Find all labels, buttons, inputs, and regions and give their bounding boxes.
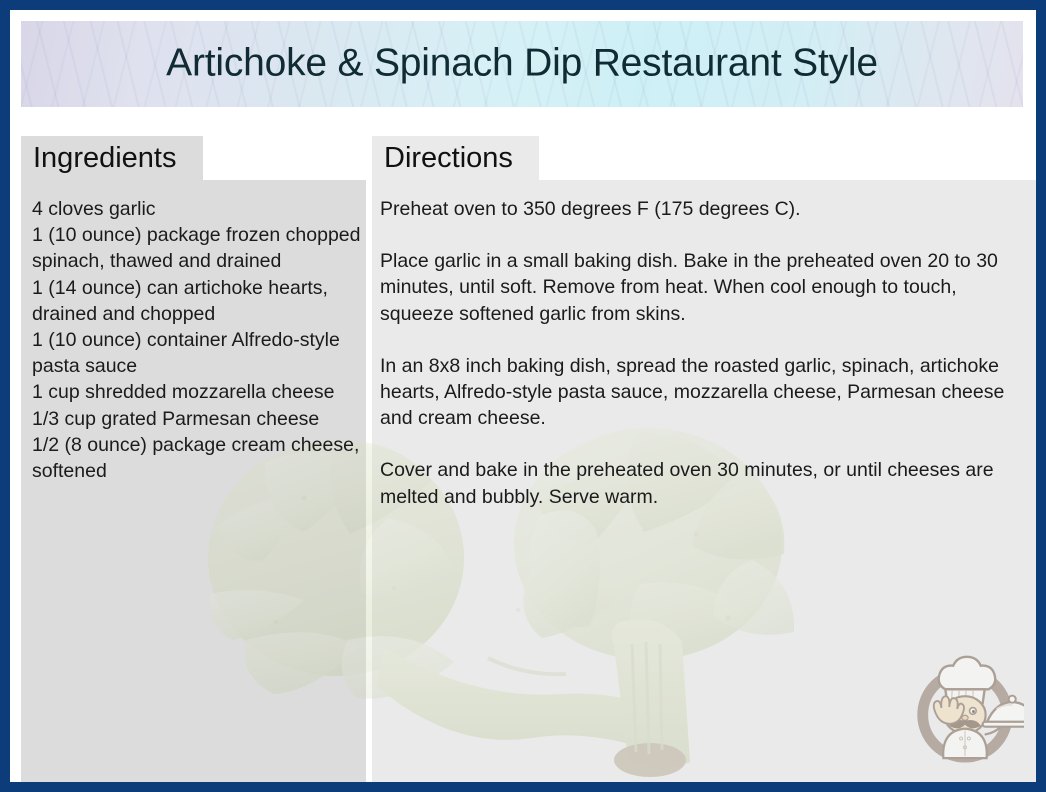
list-item: 1 cup shredded mozzarella cheese [32,379,362,405]
list-item: 1 (10 ounce) package frozen chopped spin… [32,222,362,274]
list-item: 4 cloves garlic [32,196,362,222]
direction-step: Preheat oven to 350 degrees F (175 degre… [380,196,1028,222]
list-item: 1 (10 ounce) container Alfredo-style pas… [32,327,362,379]
recipe-page: Artichoke & Spinach Dip Restaurant Style… [10,10,1036,782]
ingredients-list: 4 cloves garlic 1 (10 ounce) package fro… [32,196,362,484]
recipe-card: Artichoke & Spinach Dip Restaurant Style… [0,0,1046,792]
direction-step: Place garlic in a small baking dish. Bak… [380,248,1028,327]
ingredients-heading: Ingredients [21,136,203,182]
directions-heading: Directions [372,136,539,182]
list-item: 1 (14 ounce) can artichoke hearts, drain… [32,275,362,327]
directions-body: Preheat oven to 350 degrees F (175 degre… [380,196,1028,510]
list-item: 1/3 cup grated Parmesan cheese [32,406,362,432]
page-title: Artichoke & Spinach Dip Restaurant Style [21,43,1023,86]
list-item: 1/2 (8 ounce) package cream cheese, soft… [32,432,362,484]
direction-step: In an 8x8 inch baking dish, spread the r… [380,353,1028,432]
direction-step: Cover and bake in the preheated oven 30 … [380,457,1028,509]
title-banner: Artichoke & Spinach Dip Restaurant Style [21,21,1023,107]
